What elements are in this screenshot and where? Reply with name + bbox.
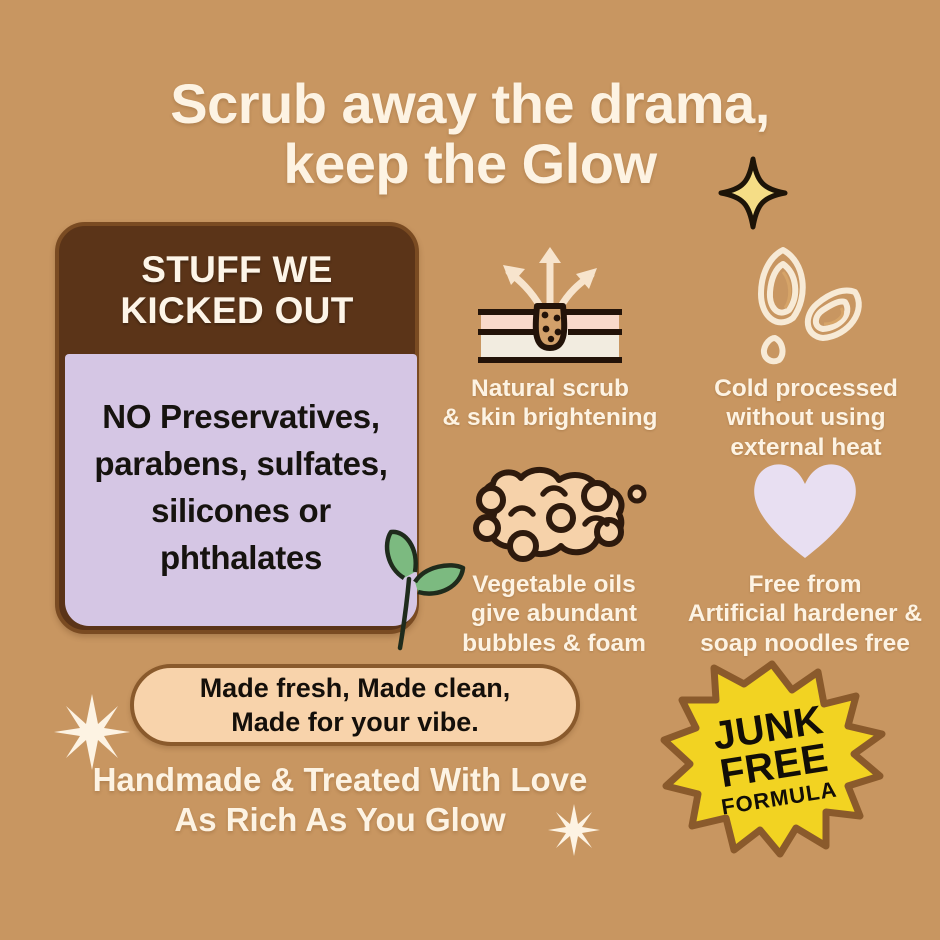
- feature-cold-processed: Cold processed without using external he…: [678, 244, 934, 462]
- seeds-icon: [678, 244, 934, 366]
- heart-icon: [676, 452, 934, 562]
- feature-caption-line-3: bubbles & foam: [462, 630, 646, 657]
- pill-line-2: Made for your vibe.: [231, 707, 479, 737]
- feature-caption-line-1: Cold processed: [678, 374, 934, 403]
- card-header-line-2: KICKED OUT: [120, 290, 353, 331]
- feature-caption-line-1: Free from: [676, 570, 934, 599]
- feature-natural-scrub: Natural scrub & skin brightening: [430, 248, 670, 433]
- eight-point-sparkle-icon: [54, 694, 130, 770]
- badge-text: JUNK FREE FORMULA: [646, 644, 900, 875]
- tagline-line-2: As Rich As You Glow: [174, 801, 505, 838]
- stuff-we-kicked-out-card: STUFF WE KICKED OUT NO Preservatives, pa…: [55, 222, 419, 634]
- card-header-line-1: STUFF WE: [141, 249, 332, 290]
- headline-line-1: Scrub away the drama,: [170, 72, 770, 135]
- card-body: NO Preservatives, parabens, sulfates, si…: [65, 354, 417, 626]
- four-point-star-icon: [718, 156, 788, 230]
- foam-bubbles-icon: [436, 470, 672, 562]
- feature-caption-line-2: without using: [726, 404, 885, 431]
- skin-pore-scrub-icon: [430, 248, 670, 366]
- made-fresh-banner: Made fresh, Made clean, Made for your vi…: [130, 664, 580, 746]
- junk-free-badge: JUNK FREE FORMULA: [660, 660, 886, 858]
- headline-line-2: keep the Glow: [0, 134, 940, 194]
- excluded-ingredients-text: NO Preservatives, parabens, sulfates, si…: [77, 394, 405, 581]
- card-header: STUFF WE KICKED OUT: [59, 226, 415, 354]
- feature-caption-line-2: Artificial hardener: [688, 600, 898, 627]
- feature-caption-line-2: & skin brightening: [442, 404, 657, 431]
- feature-caption-line-1: Vegetable oils: [436, 570, 672, 599]
- feature-caption-line-2: give abundant: [471, 600, 637, 627]
- page-title: Scrub away the drama, keep the Glow: [0, 74, 940, 195]
- feature-free-from: Free from Artificial hardener & soap noo…: [676, 452, 934, 658]
- tagline-line-1: Handmade & Treated With Love: [93, 761, 588, 798]
- feature-vegetable-oils: Vegetable oils give abundant bubbles & f…: [436, 470, 672, 658]
- promo-poster: Scrub away the drama, keep the Glow STUF…: [0, 0, 940, 940]
- pill-line-1: Made fresh, Made clean,: [200, 673, 511, 703]
- feature-caption-line-1: Natural scrub: [430, 374, 670, 403]
- eight-point-sparkle-icon: [548, 804, 600, 856]
